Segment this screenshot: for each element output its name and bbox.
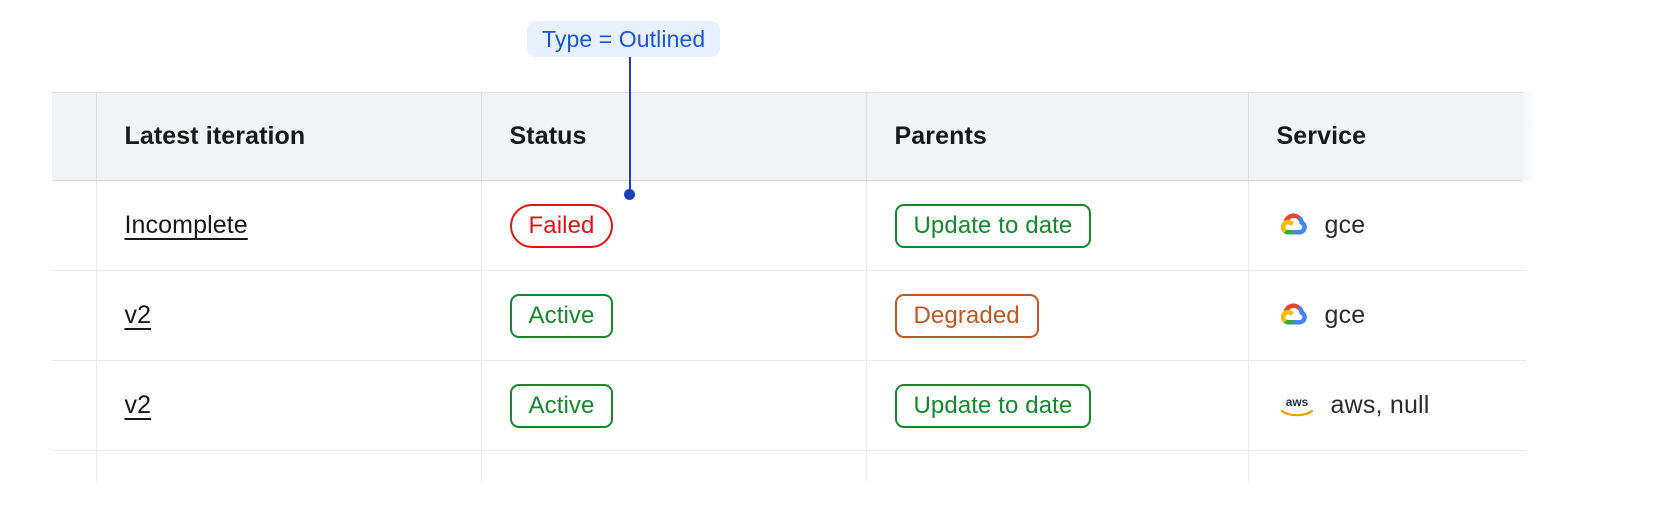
status-badge[interactable]: Active: [510, 294, 614, 338]
iteration-link[interactable]: v2: [125, 391, 152, 419]
cell-service: aws aws, null: [1248, 361, 1526, 451]
table-row[interactable]: Incomplete Failed Update to date: [52, 181, 1526, 271]
cell-latest-iteration: [96, 451, 481, 481]
cell-parents: Update to date: [866, 361, 1248, 451]
data-table-container: Latest iteration Status Parents Service …: [52, 92, 1526, 481]
cell-status: [481, 451, 866, 481]
svg-text:aws: aws: [1285, 395, 1308, 409]
cell-parents: [866, 451, 1248, 481]
table-row-partial[interactable]: [52, 451, 1526, 481]
cell-service: gce: [1248, 181, 1526, 271]
row-select-cell[interactable]: [52, 181, 96, 271]
annotation-label[interactable]: Type = Outlined: [527, 21, 720, 57]
iteration-link[interactable]: v2: [125, 301, 152, 329]
cell-status: Active: [481, 361, 866, 451]
column-header-parents[interactable]: Parents: [866, 93, 1248, 181]
iteration-link[interactable]: Incomplete: [125, 211, 248, 239]
parents-badge[interactable]: Update to date: [895, 204, 1092, 248]
row-select-cell[interactable]: [52, 451, 96, 481]
row-select-cell[interactable]: [52, 271, 96, 361]
header-right-fade: [1522, 92, 1536, 181]
table-header: Latest iteration Status Parents Service: [52, 93, 1526, 181]
table-header-row: Latest iteration Status Parents Service: [52, 93, 1526, 181]
service-label: gce: [1325, 211, 1366, 240]
column-header-status[interactable]: Status: [481, 93, 866, 181]
service-label: aws, null: [1331, 391, 1430, 420]
parents-badge[interactable]: Update to date: [895, 384, 1092, 428]
service-label: gce: [1325, 301, 1366, 330]
column-header-select[interactable]: [52, 93, 96, 181]
cell-parents: Update to date: [866, 181, 1248, 271]
cell-latest-iteration: Incomplete: [96, 181, 481, 271]
cell-parents: Degraded: [866, 271, 1248, 361]
cell-service: [1248, 451, 1526, 481]
row-select-cell[interactable]: [52, 361, 96, 451]
google-cloud-icon: [1277, 209, 1311, 243]
resources-table: Latest iteration Status Parents Service …: [52, 92, 1526, 481]
cell-status: Failed: [481, 181, 866, 271]
cell-latest-iteration: v2: [96, 361, 481, 451]
parents-badge[interactable]: Degraded: [895, 294, 1039, 338]
cell-status: Active: [481, 271, 866, 361]
status-badge[interactable]: Failed: [510, 204, 614, 248]
cell-latest-iteration: v2: [96, 271, 481, 361]
google-cloud-icon: [1277, 299, 1311, 333]
table-body: Incomplete Failed Update to date: [52, 181, 1526, 481]
aws-icon: aws: [1277, 389, 1317, 423]
table-row[interactable]: v2 Active Degraded: [52, 271, 1526, 361]
cell-service: gce: [1248, 271, 1526, 361]
status-badge[interactable]: Active: [510, 384, 614, 428]
table-row[interactable]: v2 Active Update to date aws aws,: [52, 361, 1526, 451]
column-header-service[interactable]: Service: [1248, 93, 1526, 181]
column-header-latest-iteration[interactable]: Latest iteration: [96, 93, 481, 181]
